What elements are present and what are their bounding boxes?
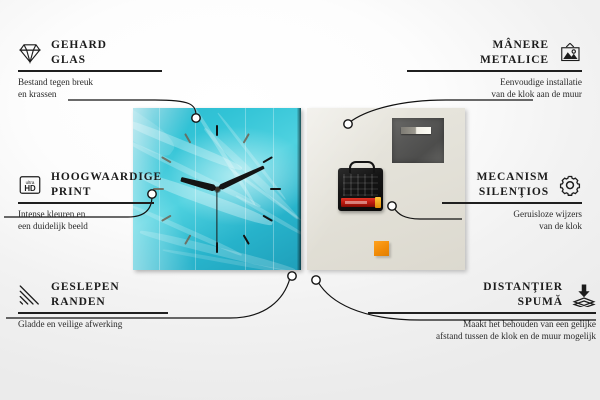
feature-desc-line1: Maakt het behouden van een gelijke [368, 318, 596, 330]
feature-title-line2: METALICE [480, 53, 549, 68]
feature-title-line1: GEHARD [51, 38, 107, 53]
divider [442, 202, 582, 203]
divider [368, 312, 596, 313]
foam-spacer-pad [374, 241, 389, 256]
battery [341, 198, 380, 207]
feature-title-line2: SPUMĂ [483, 295, 563, 310]
clock-mechanism-box [338, 168, 383, 211]
feature-title-line2: RANDEN [51, 295, 120, 310]
divider [18, 312, 168, 313]
feature-desc-line2: afstand tussen de klok en de muur mogeli… [368, 330, 596, 342]
divider [407, 70, 582, 71]
beveled-edge-icon [18, 283, 42, 307]
metal-hanger-plate [392, 118, 444, 163]
picture-hanger-icon [558, 41, 582, 65]
feature-title-line1: MÂNERE [480, 38, 549, 53]
feature-title-line1: DISTANŢIER [483, 280, 563, 295]
diamond-icon [18, 41, 42, 65]
feature-title-line2: SILENŢIOS [477, 185, 549, 200]
feature-desc-line2: van de klok aan de muur [407, 88, 582, 100]
feature-desc-line2: en krassen [18, 88, 162, 100]
feature-title-line2: GLAS [51, 53, 107, 68]
divider [18, 202, 154, 203]
spacer-pad-icon [572, 283, 596, 307]
feature-desc-line1: Gladde en veilige afwerking [18, 318, 168, 330]
feature-title-line1: HOOGWAARDIGE [51, 170, 162, 185]
feature-desc-line1: Intense kleuren en [18, 208, 154, 220]
feature-desc-line1: Eenvoudige installatie [407, 76, 582, 88]
feature-gehard-glas[interactable]: GEHARD GLAS Bestand tegen breuk en krass… [18, 38, 162, 101]
infographic-canvas: GEHARD GLAS Bestand tegen breuk en krass… [0, 0, 600, 400]
feature-distantier-spuma[interactable]: DISTANŢIER SPUMĂ Maakt het behouden van … [368, 280, 596, 343]
feature-manere-metalice[interactable]: MÂNERE METALICE Eenvoudige installatie v… [407, 38, 582, 101]
product-image [133, 108, 465, 270]
gear-icon [558, 173, 582, 197]
hanger-loop-icon [349, 161, 375, 173]
feature-desc-line1: Bestand tegen breuk [18, 76, 162, 88]
ultra-hd-icon: ultra HD [18, 173, 42, 197]
feature-mecanism-silentios[interactable]: MECANISM SILENŢIOS Geruisloze wijzers va… [442, 170, 582, 233]
feature-desc-line1: Geruisloze wijzers [442, 208, 582, 220]
feature-geslepen-randen[interactable]: GESLEPEN RANDEN Gladde en veilige afwerk… [18, 280, 168, 330]
feature-desc-line2: een duidelijk beeld [18, 220, 154, 232]
svg-text:HD: HD [24, 184, 36, 193]
feature-title-line1: MECANISM [477, 170, 549, 185]
divider [18, 70, 162, 71]
hands-center-pin [215, 187, 220, 192]
feature-title-line1: GESLEPEN [51, 280, 120, 295]
feature-desc-line2: van de klok [442, 220, 582, 232]
feature-hoogwaardige-print[interactable]: ultra HD HOOGWAARDIGE PRINT Intense kleu… [18, 170, 154, 233]
feature-title-line2: PRINT [51, 185, 162, 200]
